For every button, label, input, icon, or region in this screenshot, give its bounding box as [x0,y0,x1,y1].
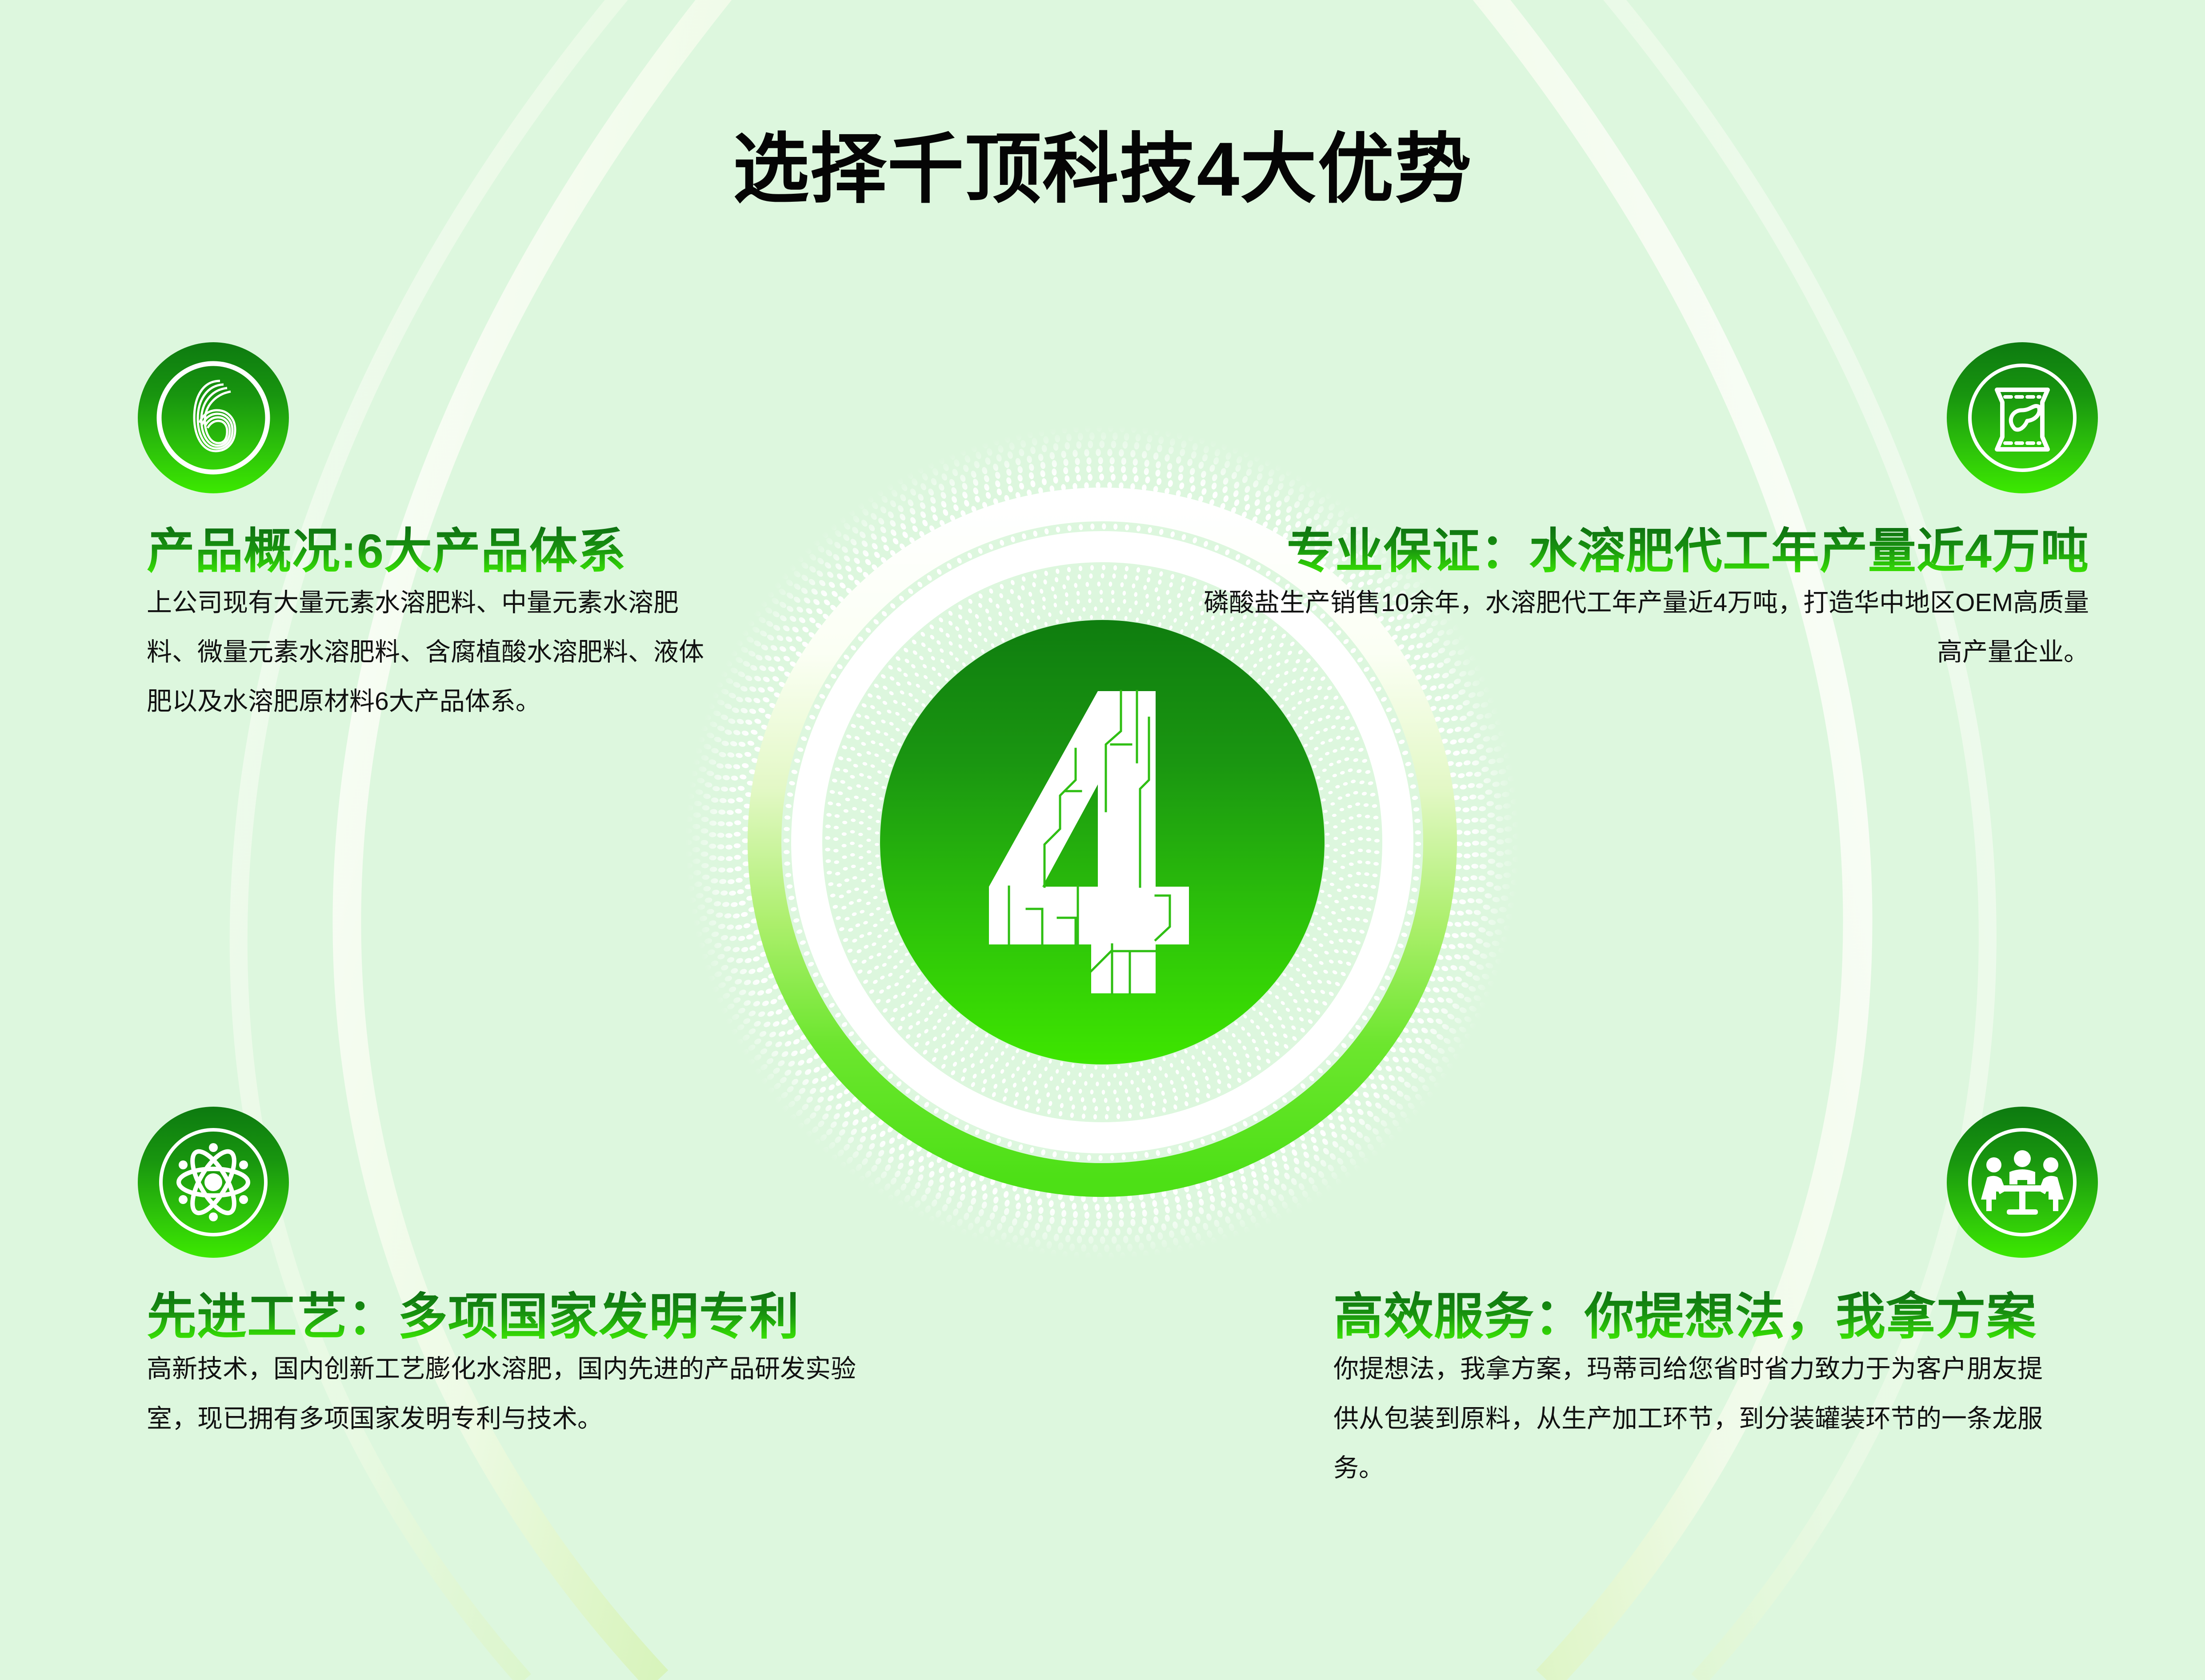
atom-icon [138,1107,289,1258]
center-number-circle [880,620,1325,1064]
number-six-circle-icon [138,342,289,493]
feature-title: 专业保证：水溶肥代工年产量近4万吨 [1200,524,2089,578]
feature-body: 高新技术，国内创新工艺膨化水溶肥，国内先进的产品研发实验室，现已拥有多项国家发明… [147,1344,893,1443]
circuit-number-four-icon [964,678,1240,1007]
page-title: 选择千顶科技4大优势 [0,107,2205,218]
feature-body: 你提想法，我拿方案，玛蒂司给您省时省力致力于为客户朋友提供从包装到原料，从生产加… [1333,1344,2045,1492]
feature-body: 上公司现有大量元素水溶肥料、中量元素水溶肥料、微量元素水溶肥料、含腐植酸水溶肥料… [147,578,707,726]
feature-title: 产品概况:6大产品体系 [147,524,707,578]
fertilizer-bag-icon [1947,342,2098,493]
feature-title: 先进工艺：多项国家发明专利 [147,1289,893,1344]
meeting-table-icon [1947,1107,2098,1258]
feature-body: 磷酸盐生产销售10余年，水溶肥代工年产量近4万吨，打造华中地区OEM高质量高产量… [1200,578,2089,677]
feature-title: 高效服务：你提想法，我拿方案 [1333,1289,2045,1344]
